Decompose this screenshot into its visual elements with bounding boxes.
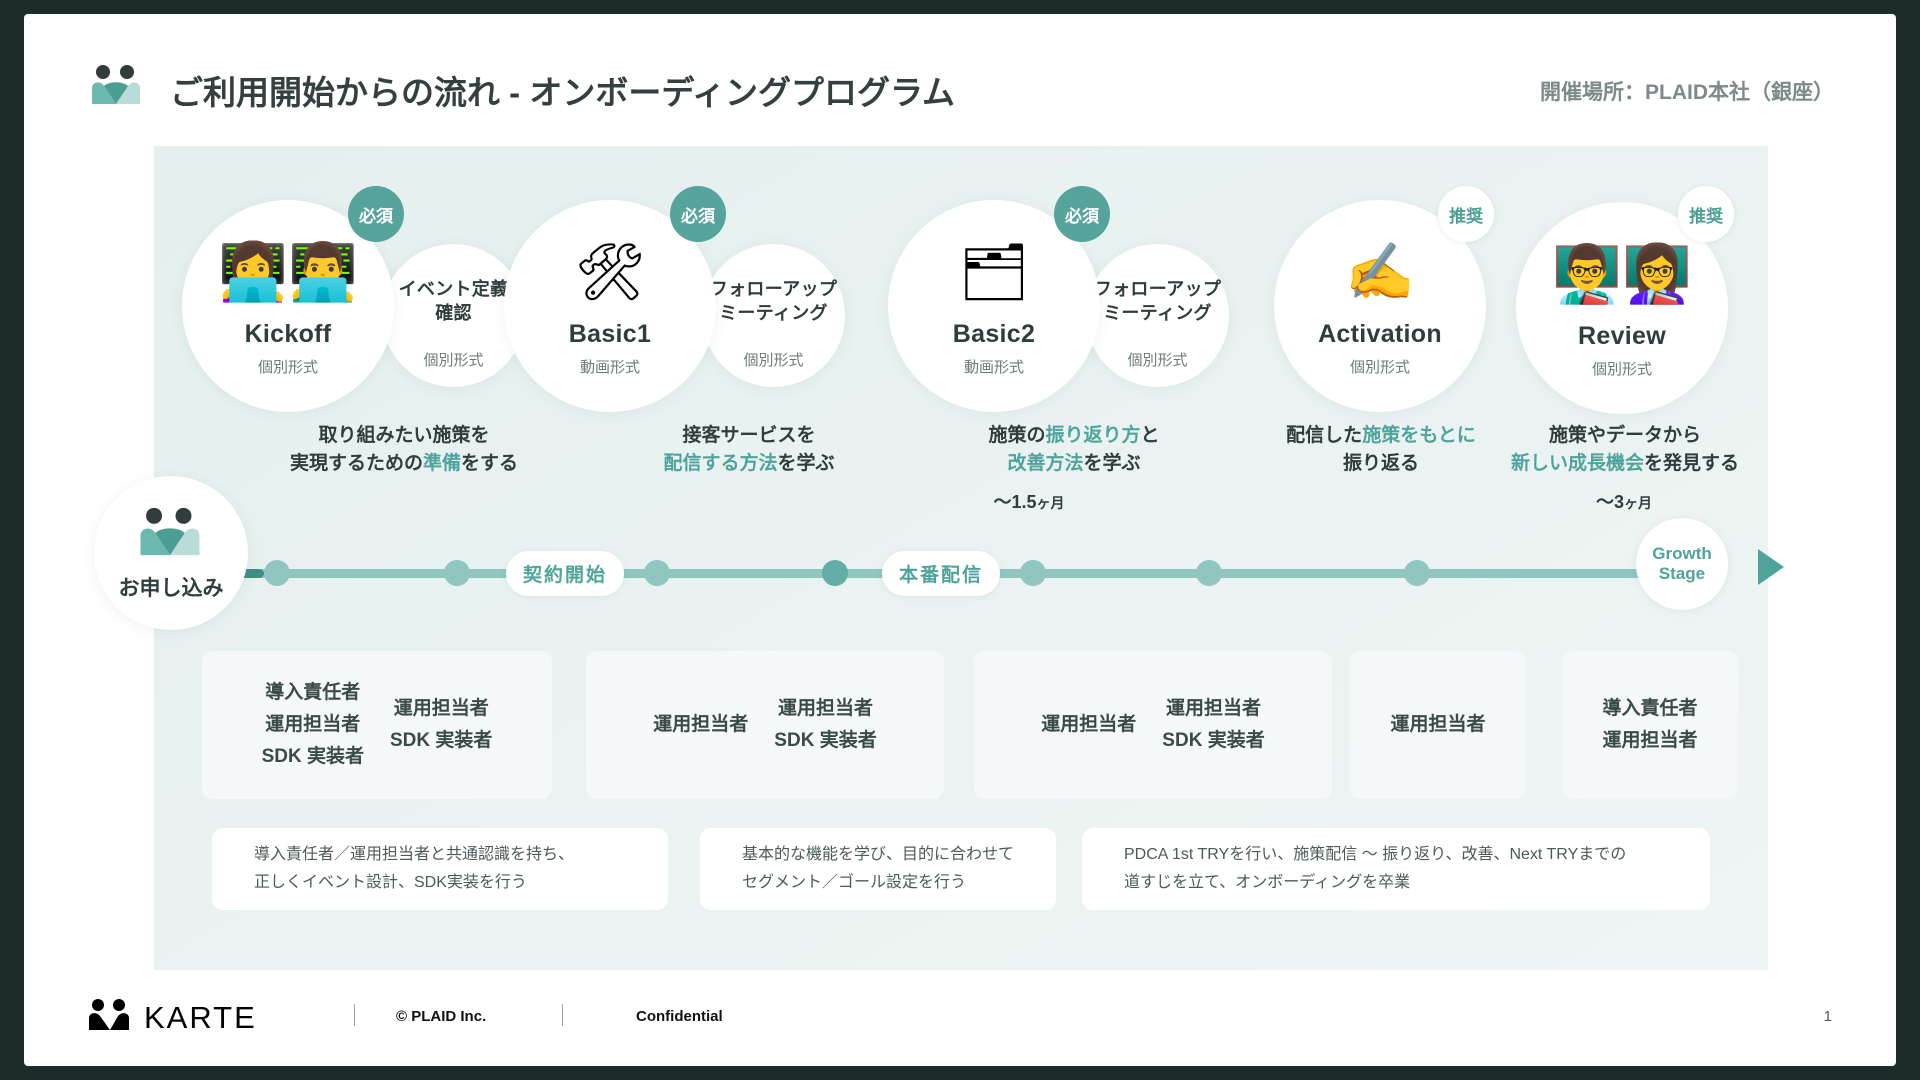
role-label: SDK 実装者 xyxy=(774,725,876,757)
role-column: 運用担当者 xyxy=(1041,709,1136,741)
badge-recommended-review: 推奨 xyxy=(1678,186,1734,242)
duration-review: ～3ヶ月 xyxy=(1544,488,1704,514)
role-label: 運用担当者 xyxy=(390,693,492,725)
timeline-dot[interactable] xyxy=(644,560,670,586)
page-number: 1 xyxy=(1824,1008,1832,1025)
note-box: 基本的な機能を学び、目的に合わせてセグメント／ゴール設定を行う xyxy=(700,828,1056,910)
badge-required-basic2: 必須 xyxy=(1054,186,1110,242)
duration-basic2: ～1.5ヶ月 xyxy=(944,488,1114,514)
role-column: 運用担当者 xyxy=(1390,709,1485,741)
role-label: 導入責任者 xyxy=(1602,693,1697,725)
stage-description-review: 施策やデータから 新しい成長機会を発見する xyxy=(1490,422,1760,478)
role-card: 運用担当者 運用担当者 SDK 実装者 xyxy=(586,651,944,799)
stage-description-kickoff: 取り組みたい施策を 実現するための準備をする xyxy=(274,422,534,478)
role-label: 運用担当者 xyxy=(1390,709,1485,741)
diagram-canvas: イベント定義確認 個別形式 👩‍💻👨‍💻 Kickoff 個別形式 必須 フォロ… xyxy=(154,146,1768,970)
stage-title: Kickoff xyxy=(182,320,394,349)
people-with-laptops-emoji: 👩‍💻👨‍💻 xyxy=(182,244,394,300)
role-card: 導入責任者 運用担当者 xyxy=(1562,651,1738,799)
role-label: 運用担当者 xyxy=(653,709,748,741)
stage-description-basic2: 施策の振り返り方と 改善方法を学ぶ xyxy=(934,422,1214,478)
teachers-emoji: 👨‍🏫👩‍🏫 xyxy=(1516,246,1728,302)
role-column: 導入責任者 運用担当者 xyxy=(1602,693,1697,757)
stage-format: 動画形式 xyxy=(504,356,716,377)
sub-circle-title: フォローアップミーティング xyxy=(702,278,845,326)
slide-header: ご利用開始からの流れ - オンボーディングプログラム 開催場所：PLAID本社（… xyxy=(24,14,1896,132)
timeline-dot[interactable] xyxy=(444,560,470,586)
note-box: PDCA 1st TRYを行い、施策配信 ～ 振り返り、改善、Next TRYま… xyxy=(1082,828,1710,910)
timeline-dot[interactable] xyxy=(264,560,290,586)
timeline-dot[interactable] xyxy=(822,560,848,586)
role-label: 運用担当者 xyxy=(774,693,876,725)
sub-circle-basic2[interactable]: フォローアップミーティング 個別形式 xyxy=(1086,244,1229,387)
note-text: 導入責任者／運用担当者と共通認識を持ち、正しくイベント設計、SDK実装を行う xyxy=(212,841,574,896)
timeline-pill-contract-start[interactable]: 契約開始 xyxy=(506,551,624,596)
stage-title: Basic1 xyxy=(504,320,716,349)
writing-hand-emoji: ✍️ xyxy=(1274,244,1486,300)
karte-smile-logo-icon xyxy=(90,64,142,108)
svg-text:KARTE: KARTE xyxy=(144,1000,257,1034)
badge-required-kickoff: 必須 xyxy=(348,186,404,242)
slide: ご利用開始からの流れ - オンボーディングプログラム 開催場所：PLAID本社（… xyxy=(24,14,1896,1066)
arrow-right-icon xyxy=(1758,549,1784,585)
stage-description-basic1: 接客サービスを 配信する方法を学ぶ xyxy=(634,422,864,478)
role-card: 導入責任者 運用担当者 SDK 実装者 運用担当者 SDK 実装者 xyxy=(202,651,552,799)
role-card: 運用担当者 xyxy=(1350,651,1526,799)
karte-smile-logo-icon xyxy=(138,506,202,560)
sub-circle-format: 個別形式 xyxy=(702,349,845,370)
stage-format: 動画形式 xyxy=(888,356,1100,377)
note-text: 基本的な機能を学び、目的に合わせてセグメント／ゴール設定を行う xyxy=(700,841,1014,896)
venue-label: 開催場所：PLAID本社（銀座） xyxy=(1540,76,1834,106)
footer-confidential: Confidential xyxy=(636,1008,723,1025)
timeline-start-apply[interactable]: お申し込み xyxy=(94,476,248,630)
role-column: 運用担当者 SDK 実装者 xyxy=(390,693,492,757)
stage-description-activation: 配信した施策をもとに 振り返る xyxy=(1256,422,1506,478)
role-label: 運用担当者 xyxy=(1602,725,1697,757)
role-column: 導入責任者 運用担当者 SDK 実装者 xyxy=(262,677,364,773)
timeline-dot[interactable] xyxy=(1196,560,1222,586)
role-card: 運用担当者 運用担当者 SDK 実装者 xyxy=(974,651,1332,799)
timeline-end-growth-stage[interactable]: GrowthStage xyxy=(1636,518,1728,610)
note-text: PDCA 1st TRYを行い、施策配信 ～ 振り返り、改善、Next TRYま… xyxy=(1082,841,1626,896)
badge-recommended-activation: 推奨 xyxy=(1438,186,1494,242)
footer-divider xyxy=(562,1004,563,1026)
stage-title: Activation xyxy=(1274,320,1486,349)
role-label: SDK 実装者 xyxy=(262,741,364,773)
growth-stage-label: GrowthStage xyxy=(1652,544,1712,585)
stage-title: Review xyxy=(1516,322,1728,351)
sub-circle-title: フォローアップミーティング xyxy=(1086,278,1229,326)
sub-circle-basic1[interactable]: フォローアップミーティング 個別形式 xyxy=(702,244,845,387)
role-column: 運用担当者 SDK 実装者 xyxy=(774,693,876,757)
role-label: 運用担当者 xyxy=(1162,693,1264,725)
footer-divider xyxy=(354,1004,355,1026)
role-column: 運用担当者 xyxy=(653,709,748,741)
badge-required-basic1: 必須 xyxy=(670,186,726,242)
timeline-pill-production-launch[interactable]: 本番配信 xyxy=(882,551,1000,596)
stage-format: 個別形式 xyxy=(182,356,394,377)
role-label: SDK 実装者 xyxy=(390,725,492,757)
documents-emoji: 🗂 xyxy=(888,244,1100,300)
role-label: 導入責任者 xyxy=(262,677,364,709)
sub-circle-format: 個別形式 xyxy=(1086,349,1229,370)
timeline-dot[interactable] xyxy=(1020,560,1046,586)
page-title: ご利用開始からの流れ - オンボーディングプログラム xyxy=(170,66,955,114)
stage-format: 個別形式 xyxy=(1274,356,1486,377)
stage-format: 個別形式 xyxy=(1516,358,1728,379)
apply-label: お申し込み xyxy=(94,572,248,602)
stage-title: Basic2 xyxy=(888,320,1100,349)
note-box: 導入責任者／運用担当者と共通認識を持ち、正しくイベント設計、SDK実装を行う xyxy=(212,828,668,910)
role-label: 運用担当者 xyxy=(1041,709,1136,741)
timeline-dot[interactable] xyxy=(1404,560,1430,586)
role-column: 運用担当者 SDK 実装者 xyxy=(1162,693,1264,757)
slide-footer: KARTE © PLAID Inc. Confidential 1 xyxy=(24,970,1896,1066)
hammer-and-wrench-emoji: 🛠 xyxy=(504,244,716,300)
footer-copyright: © PLAID Inc. xyxy=(396,1008,486,1025)
role-label: 運用担当者 xyxy=(262,709,364,741)
karte-wordmark-logo: KARTE xyxy=(88,998,270,1034)
role-label: SDK 実装者 xyxy=(1162,725,1264,757)
